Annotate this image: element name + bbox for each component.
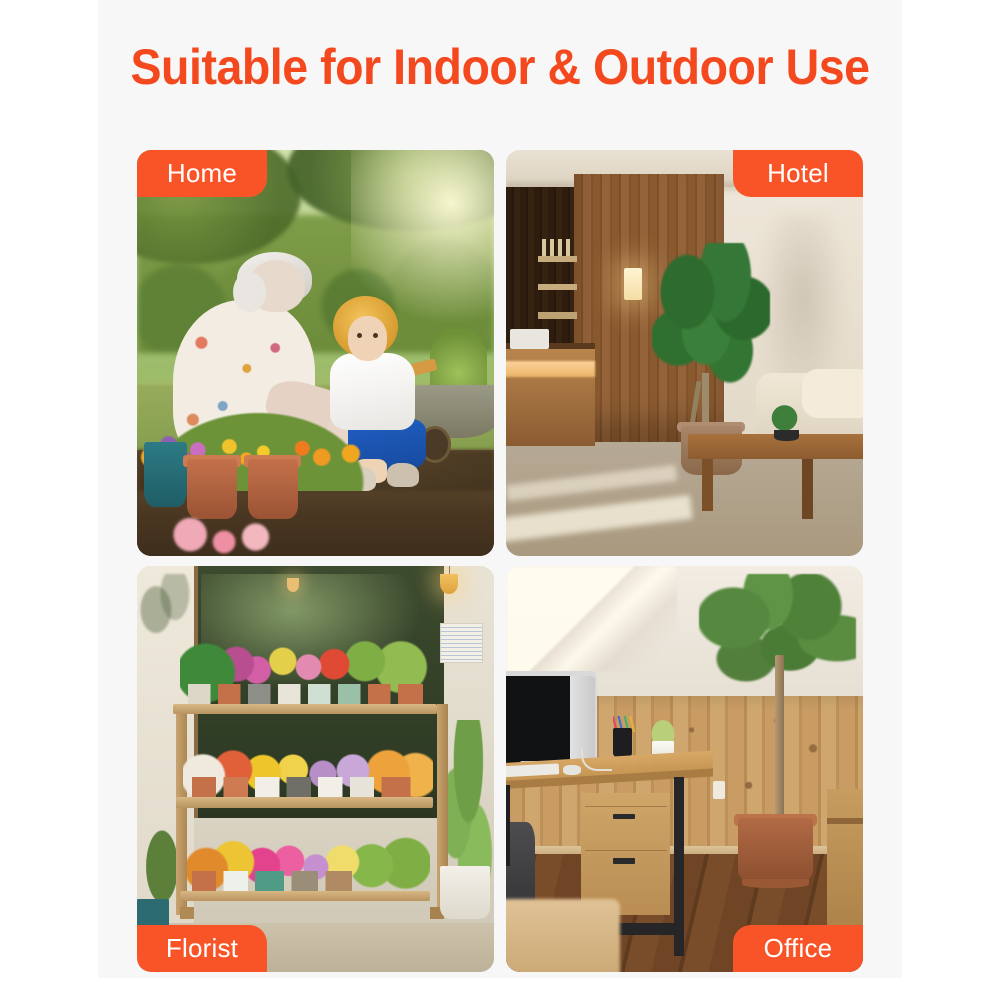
home-scene-image — [137, 150, 494, 556]
canvas-bottom-margin — [0, 978, 1000, 1000]
office-scene-image — [506, 566, 863, 972]
use-case-card-florist[interactable]: Florist — [137, 566, 494, 972]
use-case-card-home[interactable]: Home — [137, 150, 494, 556]
florist-scene-image — [137, 566, 494, 972]
canvas-left-margin — [0, 0, 98, 1000]
use-case-card-office[interactable]: Office — [506, 566, 863, 972]
badge-florist: Florist — [137, 925, 267, 972]
hotel-scene-image — [506, 150, 863, 556]
canvas-right-margin — [902, 0, 1000, 1000]
badge-hotel: Hotel — [733, 150, 863, 197]
badge-home: Home — [137, 150, 267, 197]
badge-office: Office — [733, 925, 863, 972]
use-case-gallery: Home — [137, 150, 863, 972]
use-case-card-hotel[interactable]: Hotel — [506, 150, 863, 556]
page-title: Suitable for Indoor & Outdoor Use — [35, 38, 965, 96]
product-feature-page: Suitable for Indoor & Outdoor Use — [0, 0, 1000, 1000]
